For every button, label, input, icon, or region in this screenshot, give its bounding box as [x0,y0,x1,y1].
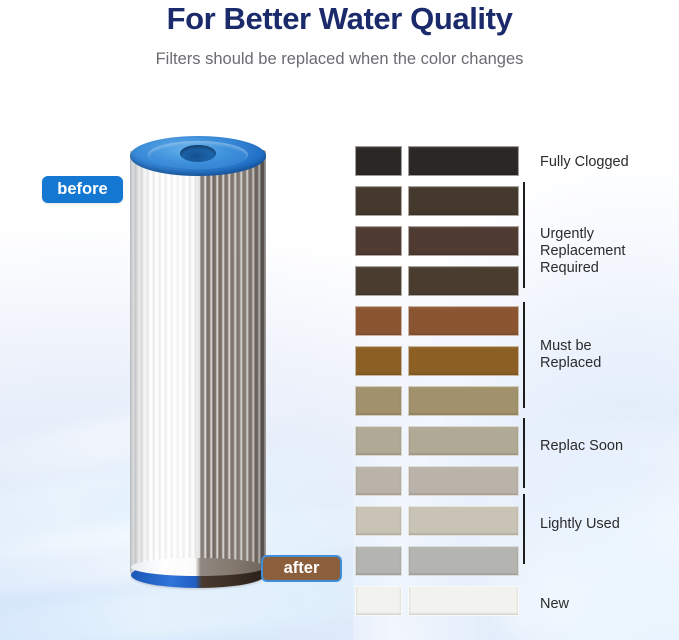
badge-after-label: after [284,559,320,578]
color-swatch-large [408,386,519,416]
color-swatch-row [355,506,519,536]
color-swatch-small [355,146,402,176]
category-label: New [540,596,569,613]
filter-bottom-mask [131,558,265,576]
page-subtitle: Filters should be replaced when the colo… [0,37,679,70]
color-swatch-large [408,226,519,256]
category-bracket [523,494,525,564]
color-swatch-row [355,426,519,456]
category-bracket [523,182,525,288]
color-swatch-small [355,386,402,416]
badge-before: before [42,176,123,203]
category-bracket [523,418,525,488]
color-swatch-large [408,506,519,536]
page-title: For Better Water Quality [0,0,679,37]
header: For Better Water Quality Filters should … [0,0,679,70]
color-swatch-row [355,186,519,216]
color-swatch-large [408,466,519,496]
color-swatch-row [355,226,519,256]
color-swatch-large [408,306,519,336]
color-swatch-row [355,266,519,296]
color-swatch-large [408,266,519,296]
color-swatch-row [355,346,519,376]
color-swatch-large [408,586,519,616]
color-swatch-small [355,546,402,576]
category-label: Urgently Replacement Required [540,226,625,277]
category-label: Replac Soon [540,438,623,455]
color-swatch-small [355,586,402,616]
color-swatch-small [355,266,402,296]
badge-before-label: before [57,180,107,199]
filter-top-cap [130,136,266,176]
color-swatch-small [355,346,402,376]
color-swatch-row [355,546,519,576]
color-swatch-small [355,466,402,496]
category-label: Must be Replaced [540,338,601,372]
badge-after: after [261,555,342,582]
color-swatch-small [355,426,402,456]
filter-cartridge-image [130,136,266,588]
color-swatch-row [355,386,519,416]
color-swatch-small [355,226,402,256]
color-swatch-large [408,186,519,216]
color-swatch-row [355,586,519,616]
color-swatch-row [355,466,519,496]
color-swatch-row [355,146,519,176]
color-swatch-large [408,426,519,456]
color-swatch-large [408,146,519,176]
color-swatch-row [355,306,519,336]
color-swatch-large [408,346,519,376]
category-label: Lightly Used [540,516,620,533]
color-condition-chart: Fully CloggedUrgently Replacement Requir… [355,146,679,594]
category-bracket [523,302,525,408]
filter-pleated-body [130,150,266,574]
filter-cap-hole [180,145,216,162]
color-swatch-large [408,546,519,576]
color-swatch-small [355,186,402,216]
color-swatch-small [355,306,402,336]
category-label: Fully Clogged [540,154,629,171]
color-swatch-small [355,506,402,536]
